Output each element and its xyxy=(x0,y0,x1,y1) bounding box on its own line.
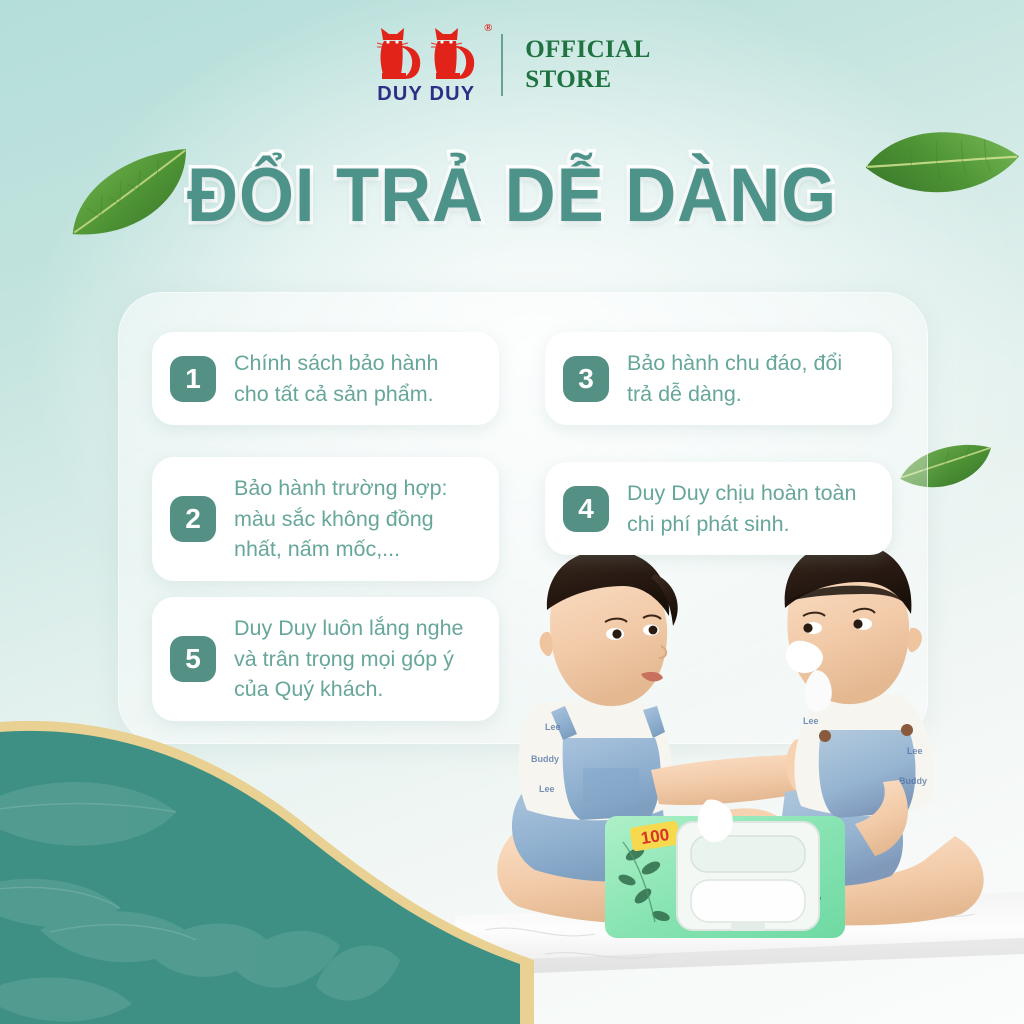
registered-trademark-icon: ® xyxy=(484,22,492,34)
brand-name: DUY DUY xyxy=(377,83,475,106)
header-divider xyxy=(501,34,503,96)
policy-card-2[interactable]: 2 Bảo hành trường hợp: màu sắc không đồn… xyxy=(152,457,499,581)
policy-badge-2: 2 xyxy=(170,496,216,542)
policy-text-4: Duy Duy chịu hoàn toàn chi phí phát sinh… xyxy=(627,478,870,539)
policy-text-2: Bảo hành trường hợp: màu sắc không đồng … xyxy=(234,473,477,565)
policy-text-5: Duy Duy luôn lắng nghe và trân trọng mọi… xyxy=(234,613,477,705)
policy-badge-5: 5 xyxy=(170,636,216,682)
cat-icon xyxy=(427,24,479,82)
brand-header: ® DUY DUY OFFICIAL STORE xyxy=(0,24,1024,106)
official-store-line1: OFFICIAL xyxy=(525,35,650,66)
policy-card-3[interactable]: 3 Bảo hành chu đáo, đổi trả dễ dàng. xyxy=(545,332,892,425)
duy-duy-cats-logo-icon: ® xyxy=(373,24,479,82)
policy-text-3: Bảo hành chu đáo, đổi trả dễ dàng. xyxy=(627,348,870,409)
page-title: ĐỔI TRẢ DỄ DÀNG xyxy=(36,152,988,239)
policy-badge-4: 4 xyxy=(563,486,609,532)
policy-card-1[interactable]: 1 Chính sách bảo hành cho tất cả sản phẩ… xyxy=(152,332,499,425)
policy-badge-1: 1 xyxy=(170,356,216,402)
policy-text-1: Chính sách bảo hành cho tất cả sản phẩm. xyxy=(234,348,477,409)
logo-block: ® DUY DUY xyxy=(373,24,479,106)
official-store-line2: STORE xyxy=(525,65,650,96)
cat-icon xyxy=(373,24,425,82)
policy-card-4[interactable]: 4 Duy Duy chịu hoàn toàn chi phí phát si… xyxy=(545,462,892,555)
official-store-label: OFFICIAL STORE xyxy=(525,35,650,96)
policy-badge-3: 3 xyxy=(563,356,609,402)
bottom-wave-decoration xyxy=(0,694,1024,1024)
promo-banner: ® DUY DUY OFFICIAL STORE ĐỔI TRẢ DỄ DÀNG xyxy=(0,0,1024,1024)
